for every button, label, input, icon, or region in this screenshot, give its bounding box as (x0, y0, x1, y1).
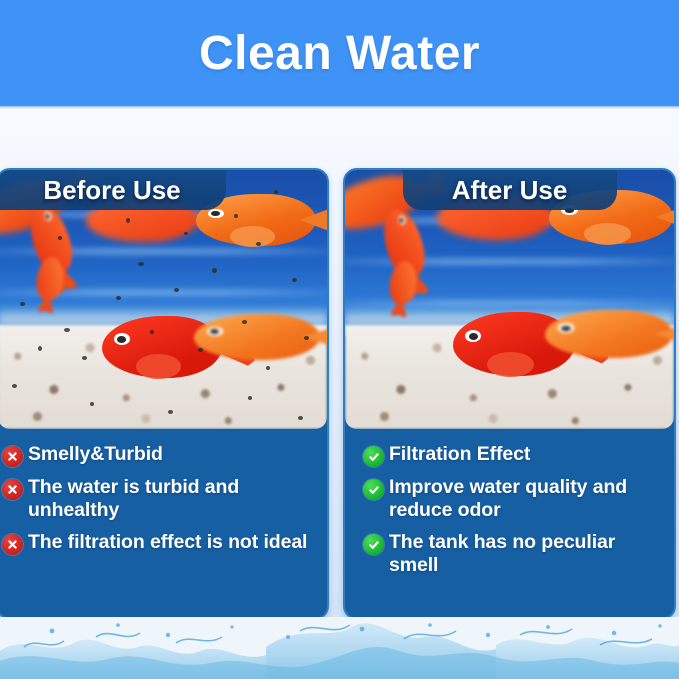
cross-icon (2, 446, 23, 467)
before-use-panel: Before Use Smelly&Turbid (0, 168, 329, 620)
after-use-label-pill: After Use (403, 170, 617, 210)
comparison-panels: Before Use Smelly&Turbid (0, 168, 679, 620)
page-title: Clean Water (199, 26, 480, 81)
header-underline (0, 106, 679, 109)
list-item: The filtration effect is not ideal (2, 531, 315, 555)
check-icon (363, 534, 384, 555)
list-item: The tank has no peculiar smell (363, 531, 660, 577)
clean-water-infographic: Clean Water (0, 0, 679, 679)
before-use-bullet-list: Smelly&Turbid The water is turbid and un… (0, 429, 327, 574)
list-item: Filtration Effect (363, 443, 660, 467)
before-use-label: Before Use (43, 175, 180, 206)
check-icon (363, 446, 384, 467)
header-banner: Clean Water (0, 0, 679, 106)
list-item-label: Improve water quality and reduce odor (389, 476, 660, 522)
cross-icon (2, 534, 23, 555)
after-use-bullet-list: Filtration Effect Improve water quality … (345, 429, 674, 596)
list-item-label: Smelly&Turbid (28, 443, 163, 466)
water-splash-graphic (0, 617, 679, 679)
after-use-panel: After Use Filtration Effect (343, 168, 676, 620)
list-item-label: Filtration Effect (389, 443, 530, 466)
before-use-photo: Before Use (0, 170, 327, 429)
list-item-label: The water is turbid and unhealthy (28, 476, 315, 522)
list-item: Improve water quality and reduce odor (363, 476, 660, 522)
list-item: The water is turbid and unhealthy (2, 476, 315, 522)
check-icon (363, 479, 384, 500)
after-use-photo: After Use (345, 170, 674, 429)
cross-icon (2, 479, 23, 500)
list-item-label: The filtration effect is not ideal (28, 531, 307, 554)
fish-orange-bottom-right (545, 310, 673, 358)
water-splash-footer (0, 617, 679, 679)
list-item-label: The tank has no peculiar smell (389, 531, 660, 577)
fish-orange-bottom-right (194, 314, 320, 360)
after-use-label: After Use (452, 175, 568, 206)
list-item: Smelly&Turbid (2, 443, 315, 467)
before-use-label-pill: Before Use (0, 170, 226, 210)
